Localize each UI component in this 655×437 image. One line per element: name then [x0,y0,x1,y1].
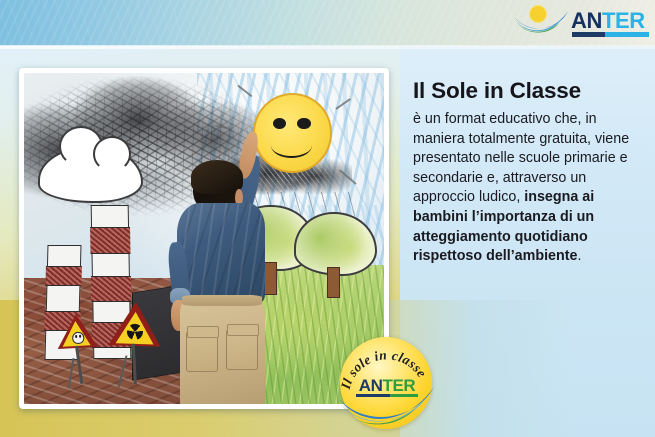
tree-drawing [294,212,373,295]
badge-wave-mark [337,385,436,435]
child-pocket [226,329,258,370]
sun-eye-left [273,118,287,129]
illustration-photo [24,73,384,404]
smokestack-stripe [45,266,82,286]
smokestack-stripe [91,276,131,302]
child-waistband [182,295,263,306]
slide-root: ANTER [0,0,655,437]
child-shirt-folds [177,203,265,304]
white-cloud-drawing [38,146,143,203]
description-regular: è un format educativo che, in maniera to… [413,111,629,205]
child-pocket-flap [227,324,259,336]
anter-wordmark: ANTER [571,10,645,32]
smiling-sun-drawing [253,93,333,173]
anter-wordmark-an: AN [571,8,602,33]
description-period: . [577,248,581,264]
child-hair [191,160,243,194]
anter-logo[interactable]: ANTER [513,3,649,43]
description-paragraph: è un format educativo che, in maniera to… [413,110,639,267]
anter-sun-wave-mark [513,3,569,43]
child-pointing [168,162,283,404]
smokestack-stripe [90,228,130,254]
il-sole-in-classe-badge[interactable]: Il sole in classe ANTER [337,337,436,435]
anter-wordmark-ter: TER [602,8,645,33]
text-column: Il Sole in Classe è un format educativo … [413,78,639,267]
page-title: Il Sole in Classe [413,78,639,104]
child-pocket-flap [187,326,219,338]
anter-tagline-bar-cyan [605,32,649,37]
sun-smile [271,133,312,158]
illustration-frame [19,68,389,409]
child-pocket [186,331,218,372]
sun-eye-right [297,118,311,129]
tree-trunk [327,267,339,299]
